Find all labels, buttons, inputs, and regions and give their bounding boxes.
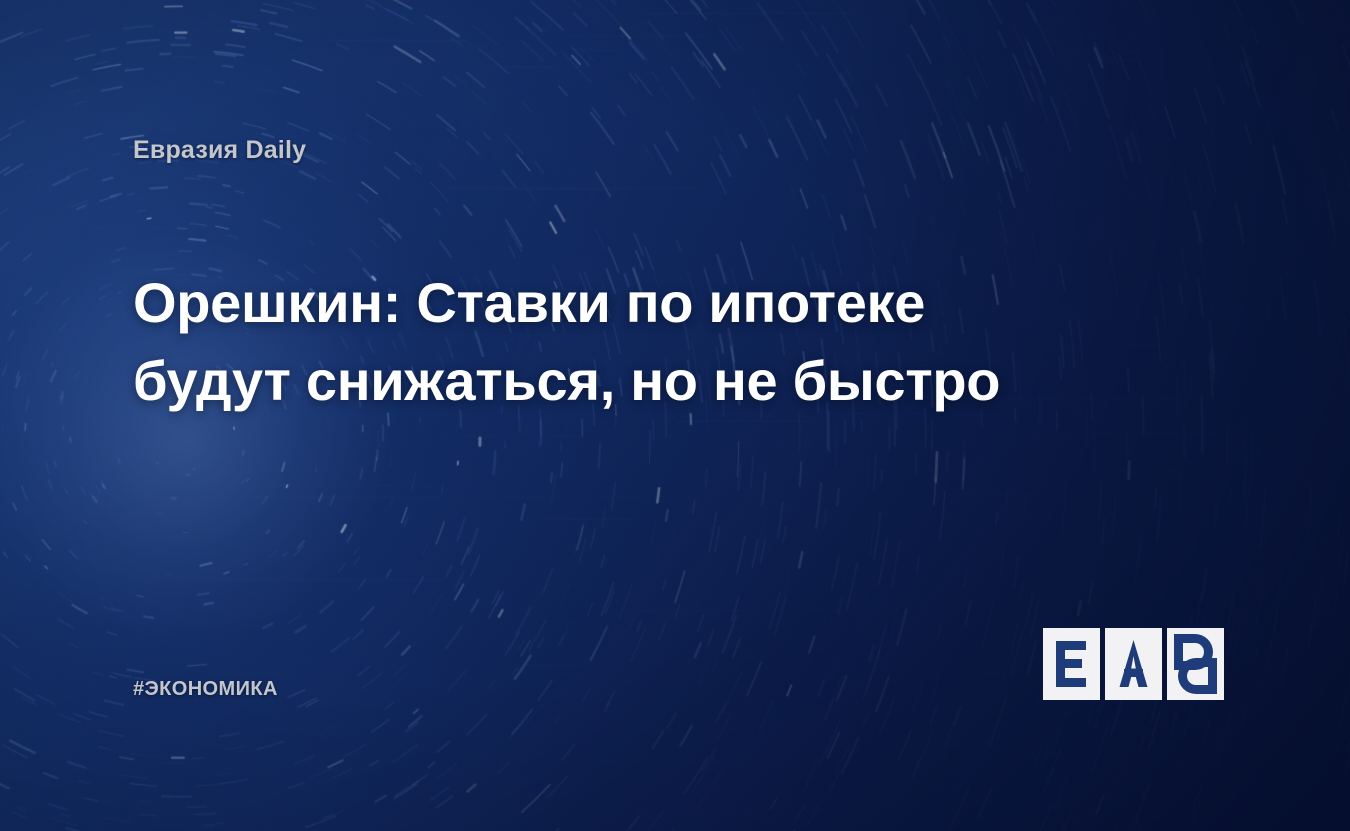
card-content: Евразия Daily Орешкин: Ставки по ипотеке… xyxy=(0,0,1350,831)
logo-tile-a-background xyxy=(1105,628,1162,700)
article-headline: Орешкин: Ставки по ипотеке будут снижать… xyxy=(133,264,1093,420)
category-hashtag: #ЭКОНОМИКА xyxy=(133,678,278,701)
eadaily-logo[interactable] xyxy=(1043,628,1229,700)
site-name: Евразия Daily xyxy=(133,136,306,165)
eadaily-logo-mark xyxy=(1043,628,1229,700)
logo-letter-d-icon xyxy=(1174,634,1217,694)
article-share-card: Евразия Daily Орешкин: Ставки по ипотеке… xyxy=(0,0,1350,831)
logo-letter-e-icon xyxy=(1056,641,1086,687)
